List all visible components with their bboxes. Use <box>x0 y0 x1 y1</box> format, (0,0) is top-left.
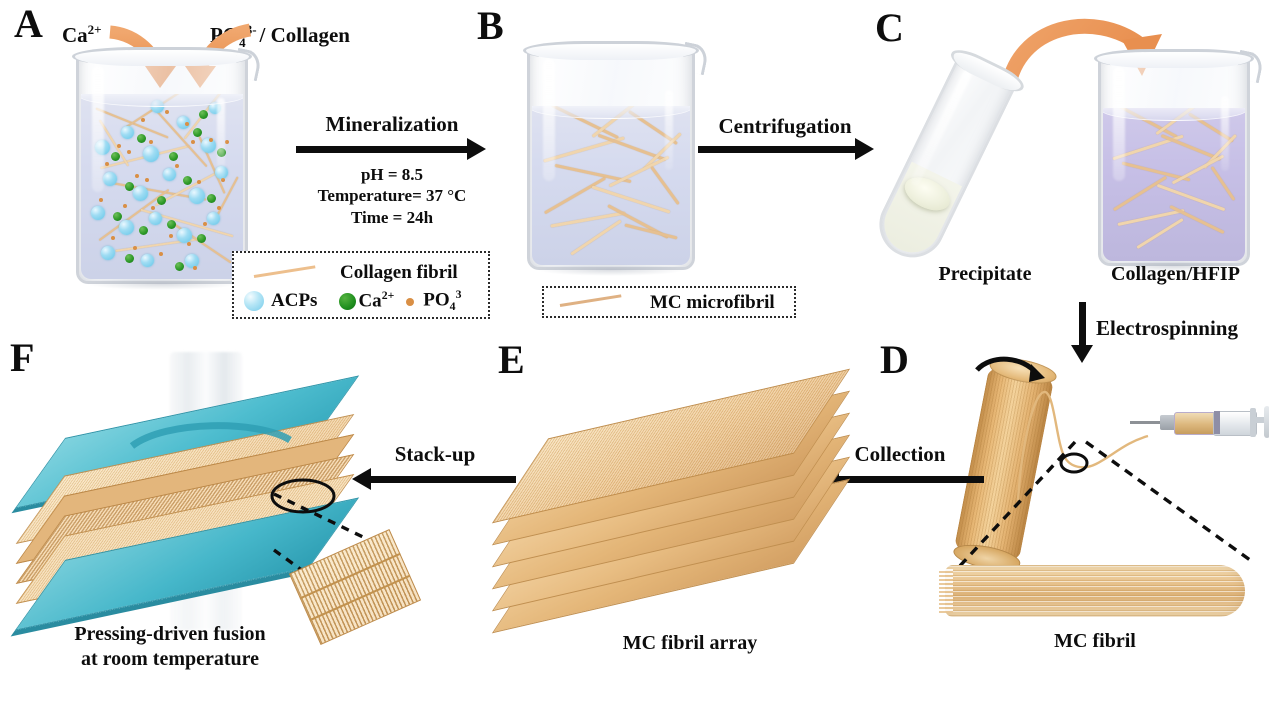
syringe-barrel-filled <box>1174 412 1216 435</box>
arrow-label-stackup: Stack-up <box>360 442 510 467</box>
tube-highlight <box>909 69 973 187</box>
legend-panel-b: MC microfibril <box>542 286 796 318</box>
syringe-needle <box>1130 421 1164 424</box>
legend-ca-text: Ca <box>358 291 381 312</box>
legend-panel-a: Collagen fibril ACPs Ca2+ PO43 <box>232 251 490 319</box>
arrow-sub-mineralization: pH = 8.5 Temperature= 37 °C Time = 24h <box>286 164 498 228</box>
arrow-label-centrifugation: Centrifugation <box>696 114 874 139</box>
beaker-a-highlight <box>92 66 104 192</box>
beaker-b-rim <box>523 41 699 60</box>
calcium-swatch-icon <box>339 293 356 310</box>
caption-precipitate: Precipitate <box>900 263 1070 286</box>
beaker-a-highlight-2 <box>217 98 225 180</box>
mc-fibril-array-stack <box>520 370 860 620</box>
phosphate-swatch-icon <box>406 298 414 306</box>
mc-fibril-bundle <box>945 565 1245 617</box>
beaker-a-glass <box>76 52 248 284</box>
legend-po4-charge: 3 <box>456 288 462 301</box>
legend-ca-charge: 2+ <box>382 289 395 302</box>
arrow-mineralization <box>296 146 468 153</box>
collagen-fibril-swatch-icon <box>254 265 316 278</box>
panel-label-a: A <box>14 4 43 44</box>
beaker-mc-microfibril <box>527 46 695 270</box>
legend-label-calcium: Ca2+ <box>358 289 394 312</box>
caption-f-line-1: Pressing-driven fusion <box>30 622 310 647</box>
press-contact-swirl-icon <box>126 418 296 466</box>
legend-label-collagen-fibril: Collagen fibril <box>340 262 458 284</box>
mineralization-time: Time = 24h <box>286 207 498 228</box>
panel-label-b: B <box>477 6 504 46</box>
legend-po4-sub: 4 <box>450 300 456 313</box>
caption-mc-fibril-array: MC fibril array <box>575 632 805 655</box>
centrifuge-tube <box>868 53 1019 269</box>
arrow-label-electrospinning: Electrospinning <box>1096 316 1238 341</box>
arrow-stackup <box>370 476 516 483</box>
caption-f-line-2: at room temperature <box>30 647 310 672</box>
acp-swatch-icon <box>244 291 264 311</box>
beaker-a-rim <box>72 47 252 66</box>
beaker-c-spout <box>1234 50 1264 84</box>
beaker-collagen-hfip <box>1098 54 1250 266</box>
mc-fibril-bundle-ends <box>939 569 953 613</box>
mineralization-temperature: Temperature= 37 °C <box>286 185 498 206</box>
caption-mc-fibril: MC fibril <box>1000 630 1190 653</box>
legend-label-mc-microfibril: MC microfibril <box>650 292 775 314</box>
figure-canvas: A Ca2+ PO43-/ Collagen <box>0 0 1269 701</box>
panel-label-d: D <box>880 340 909 380</box>
legend-label-acps: ACPs <box>271 290 317 312</box>
beaker-b-spout <box>679 42 709 76</box>
panel-label-c: C <box>875 8 904 48</box>
reagent-label-calcium: Ca2+ <box>62 22 102 48</box>
reagent-ca-text: Ca <box>62 23 88 47</box>
syringe-plunger-head <box>1264 406 1269 438</box>
beaker-c-highlight <box>1113 67 1125 182</box>
panel-label-f: F <box>10 338 34 378</box>
arrow-centrifugation <box>698 146 856 153</box>
beaker-c-rim <box>1094 49 1254 68</box>
beaker-c-glass <box>1098 54 1250 266</box>
beaker-b-shadow <box>537 264 685 276</box>
syringe-plunger-seal <box>1214 411 1220 434</box>
arrow-electrospinning <box>1079 302 1086 346</box>
zoom-callout-lines-d <box>950 440 1269 580</box>
mineralization-ph: pH = 8.5 <box>286 164 498 185</box>
caption-collagen-hfip: Collagen/HFIP <box>1088 263 1263 286</box>
legend-po4-text: PO <box>423 289 449 310</box>
caption-pressing-driven-fusion: Pressing-driven fusion at room temperatu… <box>30 622 310 672</box>
arrow-label-mineralization: Mineralization <box>294 112 490 137</box>
legend-label-phosphate: PO43 <box>423 288 461 314</box>
mc-fibril-bundle-surface <box>945 565 1245 617</box>
mc-microfibril-swatch-icon <box>560 294 622 307</box>
beaker-b-highlight <box>543 59 555 181</box>
beaker-c-highlight-2 <box>1221 96 1229 171</box>
beaker-b-highlight-2 <box>665 90 673 170</box>
beaker-b-glass <box>527 46 695 270</box>
centrifuge-tube-group <box>925 55 1105 275</box>
beaker-mineralization <box>76 52 248 284</box>
beaker-a-shadow <box>86 278 237 290</box>
